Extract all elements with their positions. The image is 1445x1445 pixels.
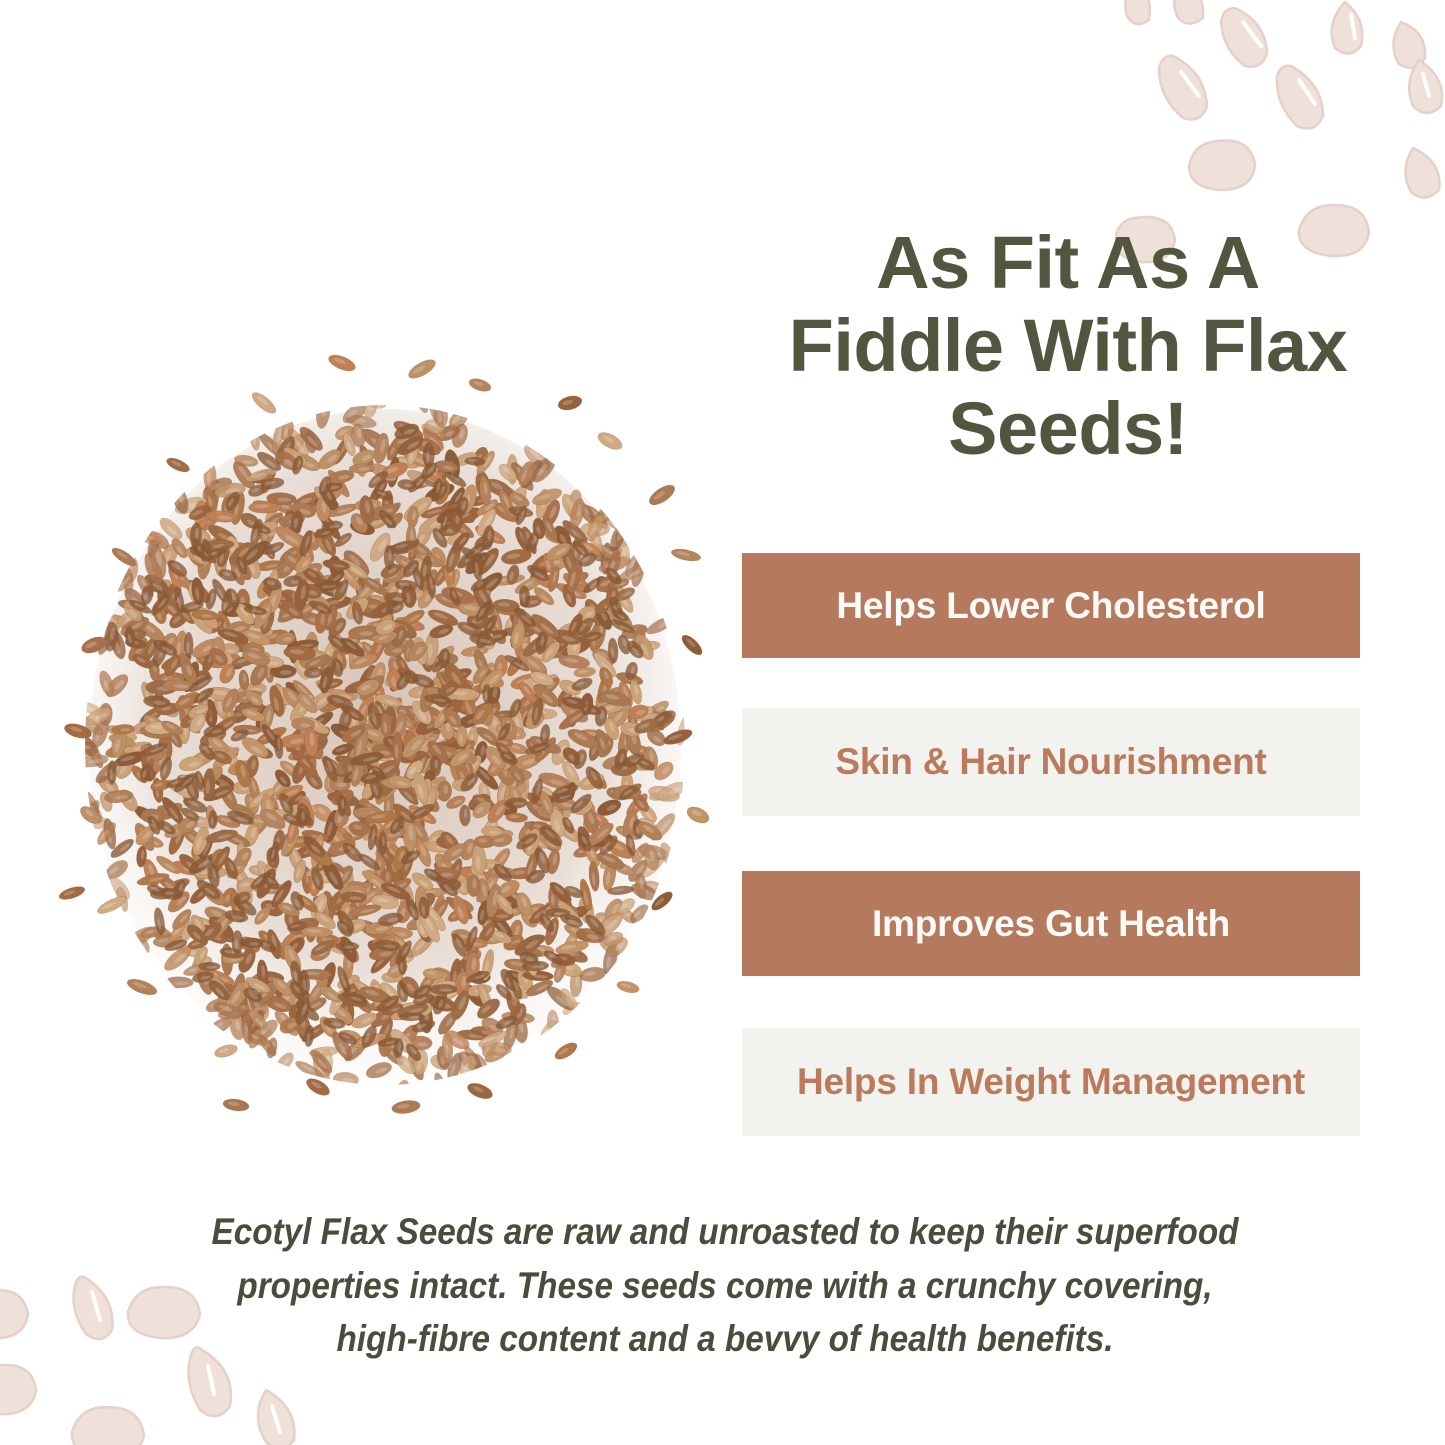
description-line-2: properties intact. These seeds come with… bbox=[199, 1259, 1252, 1313]
product-description: Ecotyl Flax Seeds are raw and unroasted … bbox=[199, 1205, 1252, 1366]
bar-spacer bbox=[742, 816, 1360, 871]
description-line-1: Ecotyl Flax Seeds are raw and unroasted … bbox=[199, 1205, 1252, 1259]
headline-line-2: Fiddle With Flax bbox=[718, 305, 1418, 388]
benefit-bar-skin-hair: Skin & Hair Nourishment bbox=[742, 708, 1360, 816]
benefit-label: Helps Lower Cholesterol bbox=[836, 585, 1265, 627]
description-line-3: high-fibre content and a bevvy of health… bbox=[199, 1312, 1252, 1366]
benefit-label: Skin & Hair Nourishment bbox=[835, 741, 1266, 783]
flax-seed-pile-image bbox=[50, 345, 720, 1135]
benefits-list: Helps Lower Cholesterol Skin & Hair Nour… bbox=[742, 553, 1360, 1136]
benefit-bar-weight-management: Helps In Weight Management bbox=[742, 1028, 1360, 1136]
headline-line-3: Seeds! bbox=[718, 388, 1418, 471]
headline-line-1: As Fit As A bbox=[718, 222, 1418, 305]
benefit-label: Helps In Weight Management bbox=[797, 1061, 1305, 1103]
benefit-bar-cholesterol: Helps Lower Cholesterol bbox=[742, 553, 1360, 658]
benefit-label: Improves Gut Health bbox=[872, 903, 1230, 945]
infographic-canvas: As Fit As A Fiddle With Flax Seeds! Help… bbox=[0, 0, 1445, 1445]
benefit-bar-gut-health: Improves Gut Health bbox=[742, 871, 1360, 976]
page-title: As Fit As A Fiddle With Flax Seeds! bbox=[718, 222, 1418, 471]
bar-spacer bbox=[742, 658, 1360, 708]
bar-spacer bbox=[742, 976, 1360, 1028]
